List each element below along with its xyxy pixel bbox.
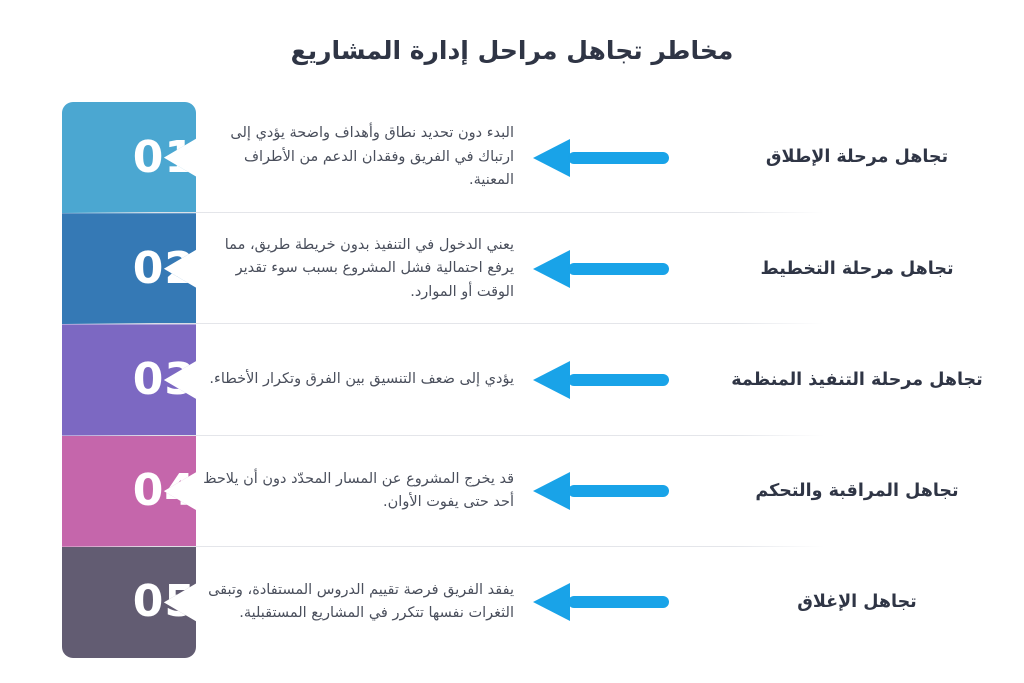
stage-description: البدء دون تحديد نطاق وأهداف واضحة يؤدي إ… [196,102,514,213]
list-item: 01 البدء دون تحديد نطاق وأهداف واضحة يؤد… [0,102,1024,213]
stage-number-block: 03 [62,324,196,435]
stage-title: تجاهل الإغلاق [690,547,1024,658]
list-item: 03 يؤدي إلى ضعف التنسيق بين الفرق وتكرار… [0,324,1024,435]
stage-description-text: قد يخرج المشروع عن المسار المحدّد دون أن… [196,468,514,515]
stage-number-label: 02 [133,247,196,291]
left-arrow-icon [532,547,672,658]
list-item: 04 قد يخرج المشروع عن المسار المحدّد دون… [0,436,1024,547]
stage-title: تجاهل المراقبة والتحكم [690,436,1024,547]
left-arrow-icon [532,102,672,213]
stage-number-label: 01 [133,136,196,180]
stage-title-text: تجاهل مرحلة الإطلاق [766,145,948,170]
page-title: مخاطر تجاهل مراحل إدارة المشاريع [0,34,1024,68]
stage-description: يفقد الفريق فرصة تقييم الدروس المستفادة،… [196,547,514,658]
list-item: 02 يعني الدخول في التنفيذ بدون خريطة طري… [0,213,1024,324]
stage-title: تجاهل مرحلة التخطيط [690,213,1024,324]
left-arrow-icon [532,324,672,435]
stage-title-text: تجاهل مرحلة التخطيط [760,257,953,282]
infographic-canvas: مخاطر تجاهل مراحل إدارة المشاريع 01 البد… [0,0,1024,683]
stage-title-text: تجاهل الإغلاق [797,590,917,615]
left-arrow-icon [532,213,672,324]
stage-title-text: تجاهل المراقبة والتحكم [755,479,958,504]
stage-description-text: يعني الدخول في التنفيذ بدون خريطة طريق، … [196,234,514,304]
stage-number-block: 05 [62,547,196,658]
stage-number-block: 02 [62,213,196,324]
stage-number-block: 04 [62,436,196,547]
stage-number-label: 04 [133,469,196,513]
list-item: 05 يفقد الفريق فرصة تقييم الدروس المستفا… [0,547,1024,658]
stage-description: يؤدي إلى ضعف التنسيق بين الفرق وتكرار ال… [196,324,514,435]
stage-title-text: تجاهل مرحلة التنفيذ المنظمة [731,368,982,393]
stage-number-label: 03 [133,358,196,402]
stage-description-text: البدء دون تحديد نطاق وأهداف واضحة يؤدي إ… [196,122,514,192]
stage-number-label: 05 [133,580,196,624]
left-arrow-icon [532,436,672,547]
stage-rows-list: 01 البدء دون تحديد نطاق وأهداف واضحة يؤد… [0,102,1024,658]
stage-title: تجاهل مرحلة التنفيذ المنظمة [690,324,1024,435]
stage-description: يعني الدخول في التنفيذ بدون خريطة طريق، … [196,213,514,324]
stage-description-text: يفقد الفريق فرصة تقييم الدروس المستفادة،… [196,579,514,626]
stage-description-text: يؤدي إلى ضعف التنسيق بين الفرق وتكرار ال… [196,368,514,391]
stage-number-block: 01 [62,102,196,213]
stage-title: تجاهل مرحلة الإطلاق [690,102,1024,213]
stage-description: قد يخرج المشروع عن المسار المحدّد دون أن… [196,436,514,547]
